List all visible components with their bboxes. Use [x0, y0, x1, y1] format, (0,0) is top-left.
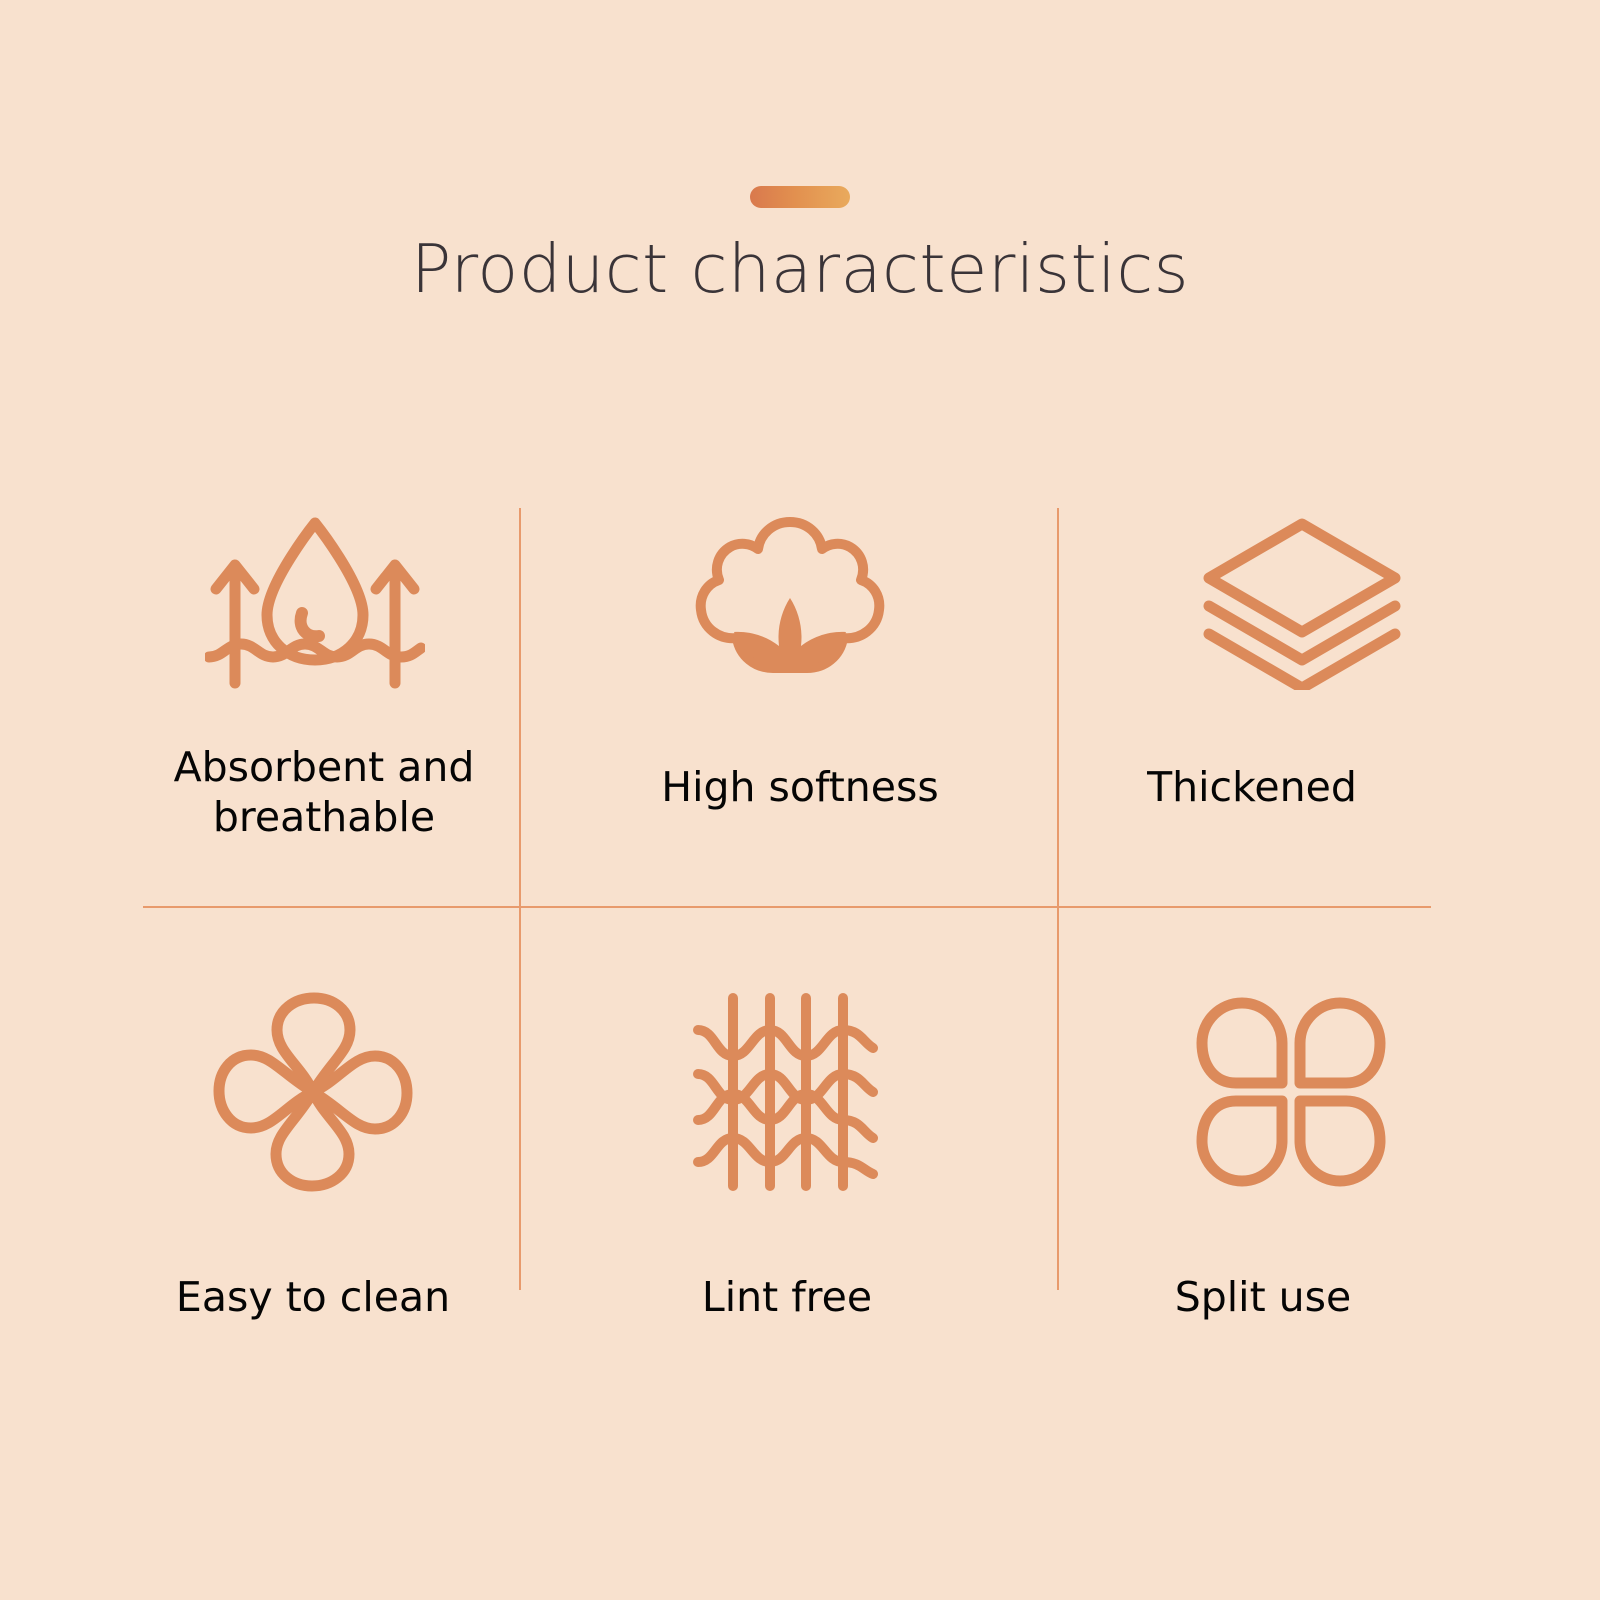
page-header: Product characteristics [0, 0, 1600, 360]
four-petal-flower-icon [203, 992, 423, 1192]
feature-cell-split-use: Split use [1034, 920, 1500, 1370]
title-accent-pill [750, 186, 850, 208]
feature-label: Easy to clean [176, 1272, 450, 1322]
cotton-boll-icon [680, 500, 900, 700]
feature-cell-thickened: Thickened [1034, 470, 1500, 920]
feature-label: Absorbent and breathable [174, 742, 475, 842]
feature-cell-easy-to-clean: Easy to clean [100, 920, 566, 1370]
feature-cell-high-softness: High softness [567, 470, 1033, 920]
product-characteristics-page: Product characteristics [0, 0, 1600, 1600]
feature-grid: Absorbent and breathable High softness [100, 470, 1500, 1370]
feature-cell-absorbent-breathable: Absorbent and breathable [100, 470, 566, 920]
feature-cell-lint-free: Lint free [567, 920, 1033, 1370]
feature-label: High softness [661, 762, 938, 812]
water-drop-absorbency-icon [205, 500, 425, 700]
four-quadrant-petals-icon [1181, 992, 1401, 1192]
page-title: Product characteristics [411, 234, 1189, 304]
feature-label: Thickened [1147, 762, 1357, 812]
woven-fabric-icon [678, 992, 898, 1192]
feature-label: Lint free [702, 1272, 872, 1322]
feature-label: Split use [1175, 1272, 1352, 1322]
layers-stack-icon [1192, 500, 1412, 700]
